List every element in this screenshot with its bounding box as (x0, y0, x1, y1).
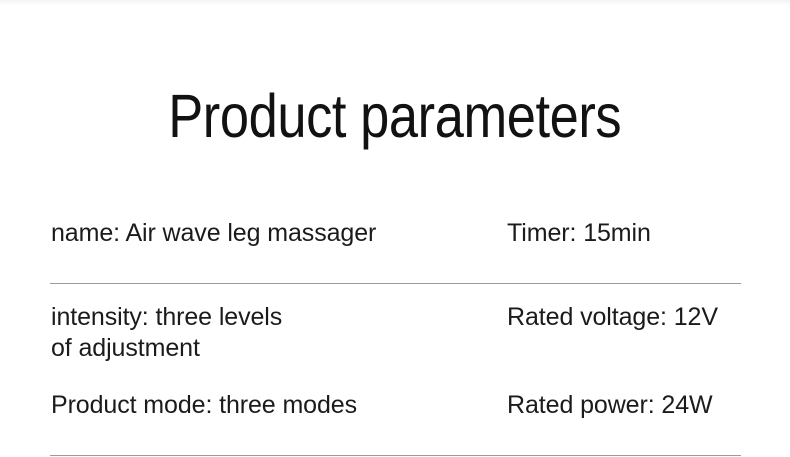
spec-cell-rated-power: Rated power: 24W (502, 372, 741, 421)
table-row: name: Air wave leg massager Timer: 15min (50, 200, 741, 283)
spec-cell-intensity: intensity: three levels of adjustment (50, 283, 502, 364)
spec-cell-rated-voltage: Rated voltage: 12V (502, 283, 741, 333)
spec-cell-name: name: Air wave leg massager (50, 200, 502, 249)
row-divider-2 (50, 455, 741, 456)
top-edge-band (0, 0, 790, 5)
spec-cell-timer: Timer: 15min (502, 200, 741, 249)
table-row: Product mode: three modes Rated power: 2… (50, 372, 741, 442)
product-parameters-page: Product parameters name: Air wave leg ma… (0, 0, 790, 457)
specifications-table: name: Air wave leg massager Timer: 15min… (50, 200, 741, 442)
table-row: intensity: three levels of adjustment Ra… (50, 283, 741, 372)
spec-cell-product-mode: Product mode: three modes (50, 372, 502, 421)
page-title: Product parameters (55, 83, 734, 149)
